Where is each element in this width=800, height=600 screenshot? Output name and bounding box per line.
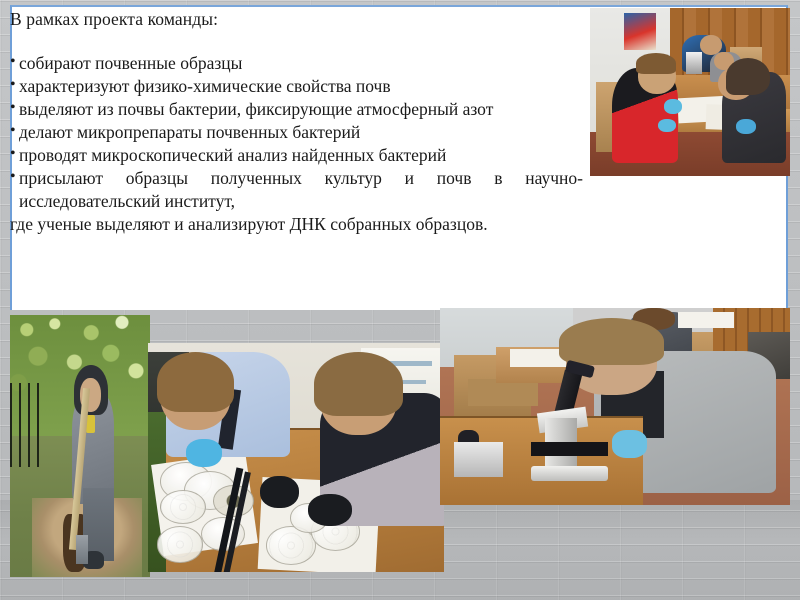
photo-layer-microscope-stage xyxy=(531,442,608,456)
bullet-marker: • xyxy=(10,143,16,164)
lead-line: В рамках проекта команды: xyxy=(10,8,588,30)
list-item: • проводят микроскопический анализ найде… xyxy=(10,144,588,167)
photo-canvas xyxy=(148,343,444,572)
list-item: • характеризуют физико-химические свойст… xyxy=(10,75,588,98)
photo-layer-petri-dish xyxy=(160,490,206,524)
list-item-label: делают микропрепараты почвенных бактерий xyxy=(19,122,360,142)
photo-layer-blue-glove xyxy=(612,430,647,458)
bullet-marker: • xyxy=(10,166,16,187)
slide-text-block: В рамках проекта команды: • собирают поч… xyxy=(10,8,588,236)
photo-layer-student-left-hair xyxy=(157,352,234,412)
bullet-marker: • xyxy=(10,120,16,141)
list-item: • делают микропрепараты почвенных бактер… xyxy=(10,121,588,144)
photo-layer-microscope xyxy=(686,52,702,74)
bullet-marker: • xyxy=(10,51,16,72)
bullet-marker: • xyxy=(10,74,16,95)
bullet-list: • собирают почвенные образцы • характери… xyxy=(10,52,588,236)
photo-layer-boy-hair xyxy=(559,318,664,365)
photo-layer-microscope-2-base xyxy=(454,442,503,477)
photo-layer-blue-glove-3 xyxy=(736,119,756,134)
photo-layer-black-glove-2 xyxy=(308,494,352,526)
photo-canvas xyxy=(10,315,150,577)
photo-layer-paper-sheet-back xyxy=(510,349,566,367)
list-item-label: характеризуют физико-химические свойства… xyxy=(19,76,391,96)
list-item: • присылают образцы полученных культур и… xyxy=(10,167,588,236)
list-item-continuation: где ученые выделяют и анализируют ДНК со… xyxy=(10,213,588,236)
photo-layer-student-dark-hair xyxy=(726,58,770,95)
photo-layer-blue-glove xyxy=(664,99,682,114)
photo-layer-poster xyxy=(624,13,656,50)
photo-layer-petri-dish xyxy=(157,526,203,562)
photo-soil-digging xyxy=(10,315,150,577)
photo-canvas xyxy=(590,8,790,176)
photo-layer-shovel-blade xyxy=(76,535,89,564)
photo-classroom-desks xyxy=(590,8,790,176)
list-item-label: присылают образцы полученных культур и п… xyxy=(19,167,583,213)
list-item: • выделяют из почвы бактерии, фиксирующи… xyxy=(10,98,588,121)
presentation-slide: В рамках проекта команды: • собирают поч… xyxy=(0,0,800,600)
bullet-marker: • xyxy=(10,97,16,118)
photo-layer-blue-glove-2 xyxy=(658,119,676,132)
photo-canvas xyxy=(440,308,790,505)
photo-layer-student-red-vest-hair xyxy=(636,53,676,73)
photo-layer-blue-glove xyxy=(186,439,222,466)
list-item-label: проводят микроскопический анализ найденн… xyxy=(19,145,446,165)
photo-layer-microscope-base xyxy=(531,466,608,482)
list-item-label: собирают почвенные образцы xyxy=(19,53,242,73)
photo-layer-black-glove xyxy=(260,476,298,508)
photo-layer-paper-sheet-right xyxy=(678,312,734,328)
photo-microscope xyxy=(440,308,790,505)
photo-layer-chair-left-seat xyxy=(468,379,538,407)
list-item: • собирают почвенные образцы xyxy=(10,52,588,75)
photo-layer-fence xyxy=(10,383,41,467)
list-item-label: выделяют из почвы бактерии, фиксирующие … xyxy=(19,99,493,119)
photo-petri-dishes xyxy=(148,343,444,572)
photo-layer-student-right-hair xyxy=(314,352,403,416)
